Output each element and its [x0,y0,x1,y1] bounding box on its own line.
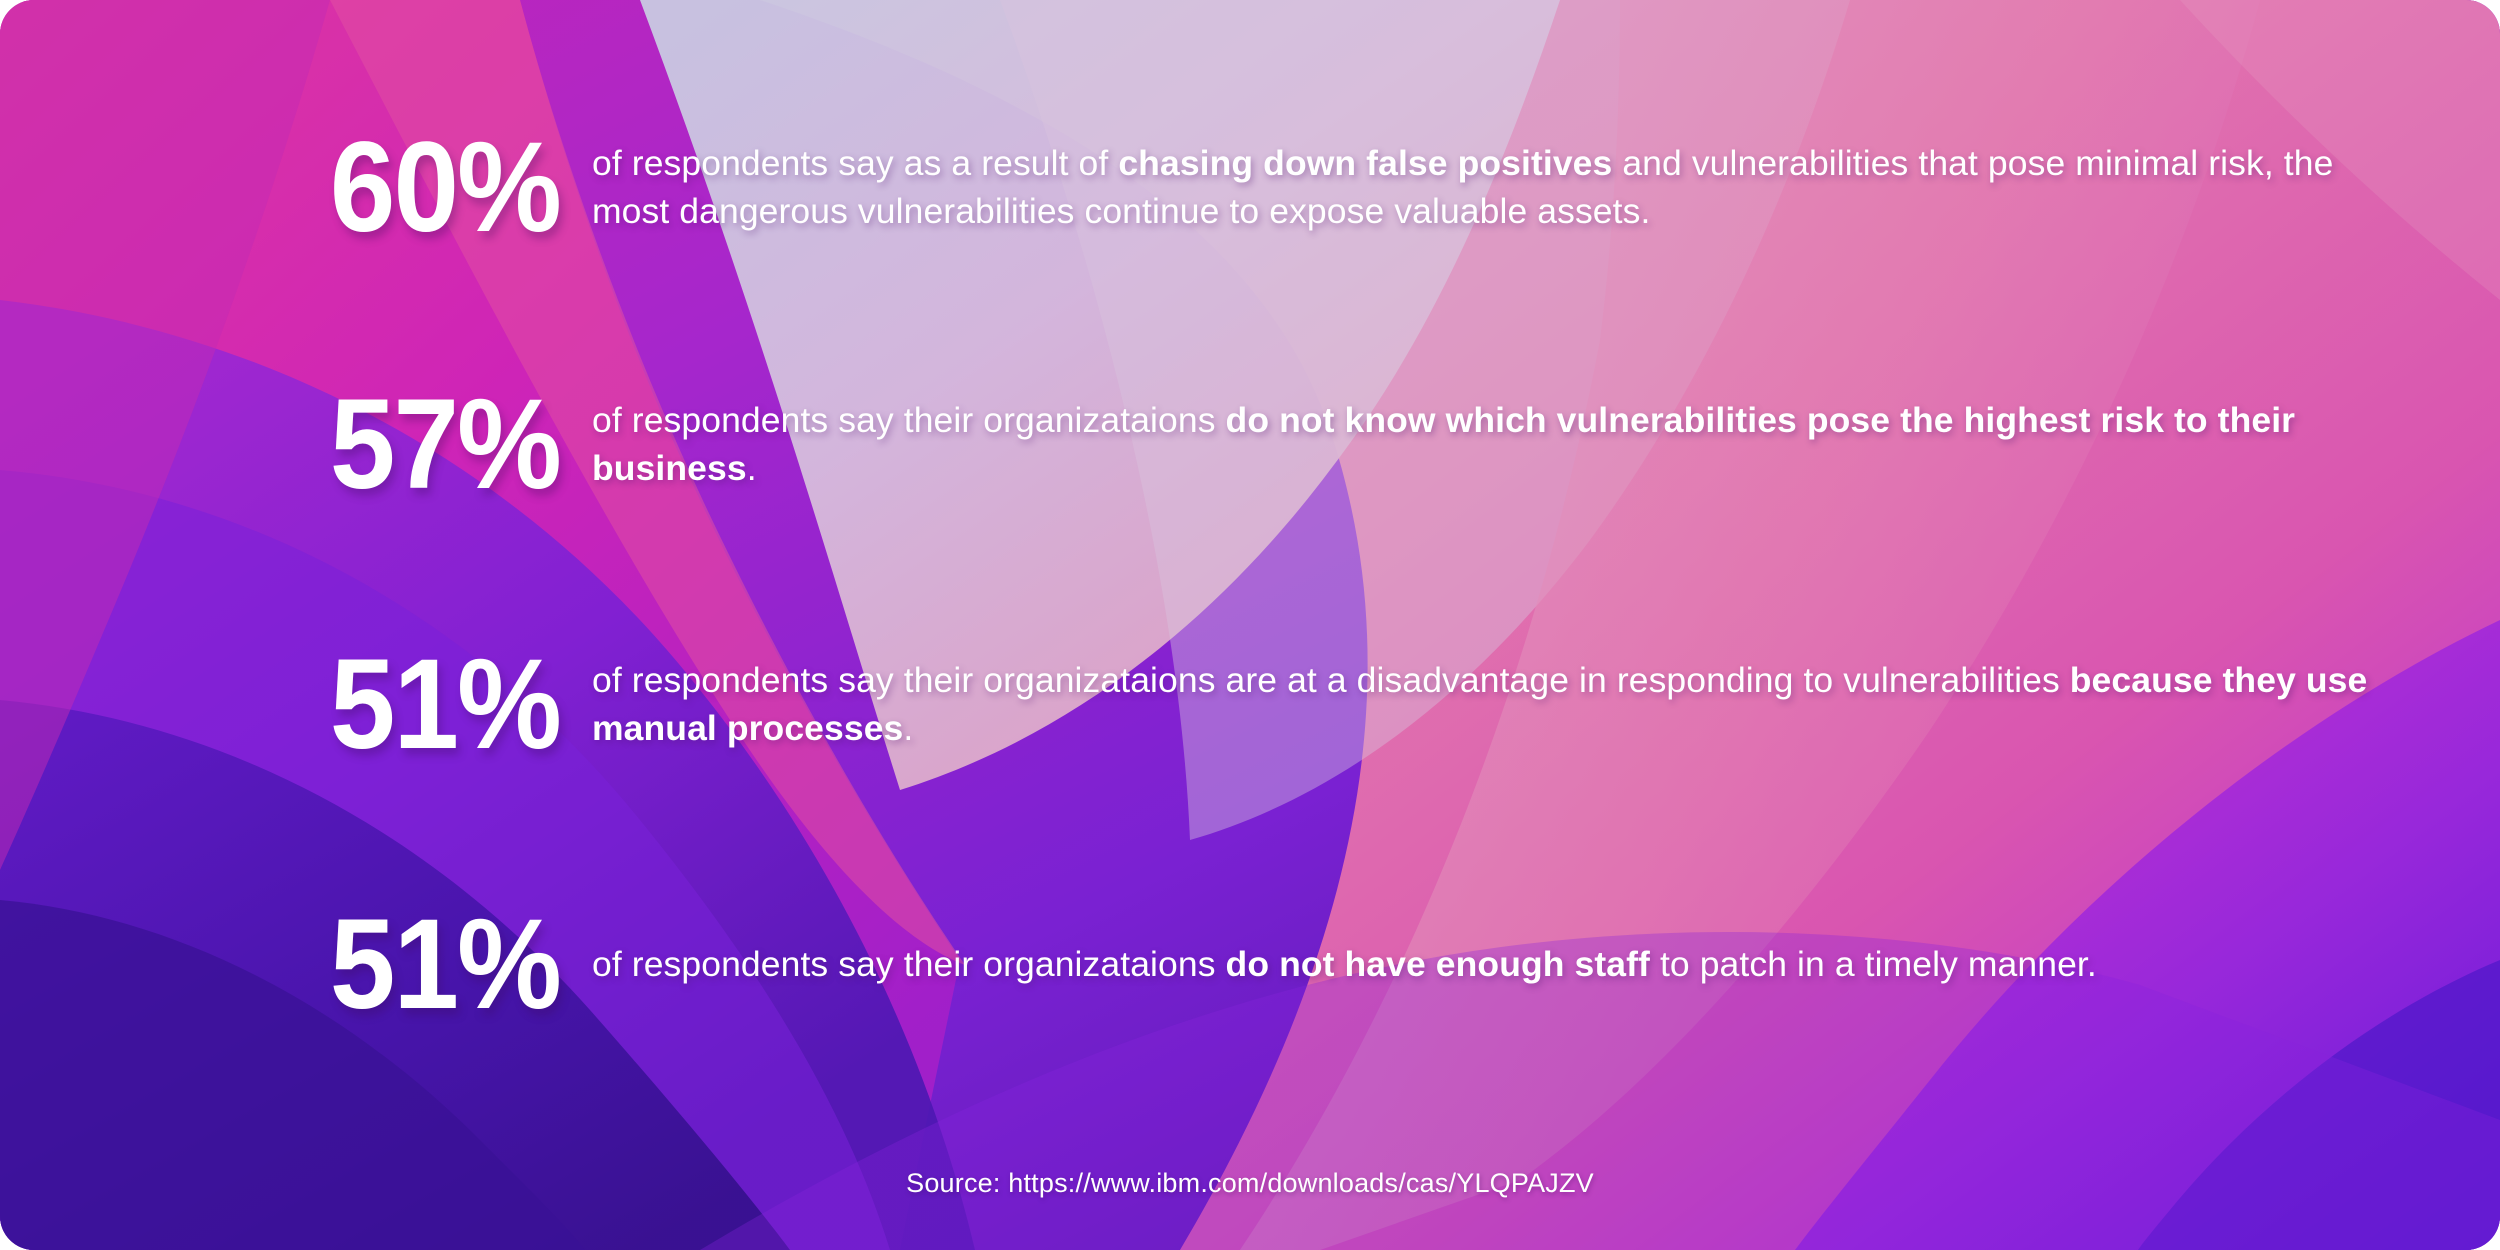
stat-description-tail: . [903,708,913,748]
stat-description: of respondents say their organizataions … [592,657,2372,752]
infographic-card: 60% of respondents say as a result of ch… [0,0,2500,1250]
stat-row: 60% of respondents say as a result of ch… [0,128,2500,248]
stat-description: of respondents say their organizataions … [592,397,2372,492]
stat-percentage: 60% [45,124,560,252]
source-citation: Source: https://www.ibm.com/downloads/ca… [0,1168,2500,1199]
stat-percentage: 51% [45,641,560,769]
stat-description-lead: of respondents say their organizataions [592,400,1226,440]
stat-description-emphasis: do not have enough staff [1226,944,1650,984]
stat-row: 57% of respondents say their organizatai… [0,385,2500,505]
stat-description-lead: of respondents say as a result of [592,143,1118,183]
stat-description-lead: of respondents say their organizataions [592,944,1226,984]
stat-description: of respondents say as a result of chasin… [592,140,2372,235]
stat-description-tail: . [747,448,757,488]
stat-row: 51% of respondents say their organizatai… [0,645,2500,765]
stat-percentage: 57% [45,381,560,509]
stat-row: 51% of respondents say their organizatai… [0,905,2500,1025]
stat-percentage: 51% [45,901,560,1029]
stat-description-lead: of respondents say their organizataions … [592,660,2070,700]
content-layer: 60% of respondents say as a result of ch… [0,0,2500,1250]
stat-description-tail: to patch in a timely manner. [1650,944,2097,984]
stat-description: of respondents say their organizataions … [592,941,2097,989]
stat-description-emphasis: chasing down false positives [1118,143,1612,183]
